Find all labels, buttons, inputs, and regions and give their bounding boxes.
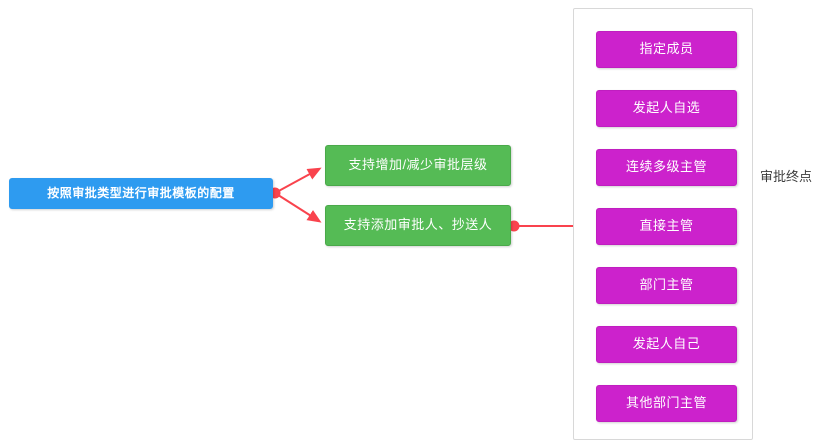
node-approver-direct-manager[interactable]: 直接主管	[596, 208, 737, 245]
node-approval-template-config[interactable]: 按照审批类型进行审批模板的配置	[9, 178, 273, 209]
node-branch-add-approvers[interactable]: 支持添加审批人、抄送人	[325, 205, 511, 246]
node-label: 连续多级主管	[626, 160, 707, 174]
node-label: 直接主管	[639, 219, 693, 233]
node-approver-department-manager[interactable]: 部门主管	[596, 267, 737, 304]
node-label: 其他部门主管	[626, 396, 707, 410]
node-label: 发起人自己	[633, 337, 701, 351]
node-label: 部门主管	[639, 278, 693, 292]
node-approver-other-department-manager[interactable]: 其他部门主管	[596, 385, 737, 422]
node-label: 支持添加审批人、抄送人	[344, 218, 493, 232]
node-label: 指定成员	[639, 42, 693, 56]
node-label: 支持增加/减少审批层级	[348, 158, 487, 172]
node-approver-initiator-self[interactable]: 发起人自己	[596, 326, 737, 363]
diagram-canvas: 按照审批类型进行审批模板的配置 支持增加/减少审批层级 支持添加审批人、抄送人 …	[0, 0, 824, 445]
node-approver-designated-member[interactable]: 指定成员	[596, 31, 737, 68]
node-approver-multilevel-manager[interactable]: 连续多级主管	[596, 149, 737, 186]
connector-root-to-branch-2	[275, 193, 319, 221]
node-branch-adjust-levels[interactable]: 支持增加/减少审批层级	[325, 145, 511, 186]
node-approver-initiator-choice[interactable]: 发起人自选	[596, 90, 737, 127]
node-label: 发起人自选	[633, 101, 701, 115]
approval-end-label: 审批终点	[760, 166, 824, 185]
connector-root-to-branch-1	[275, 169, 319, 193]
node-label: 按照审批类型进行审批模板的配置	[47, 187, 235, 200]
